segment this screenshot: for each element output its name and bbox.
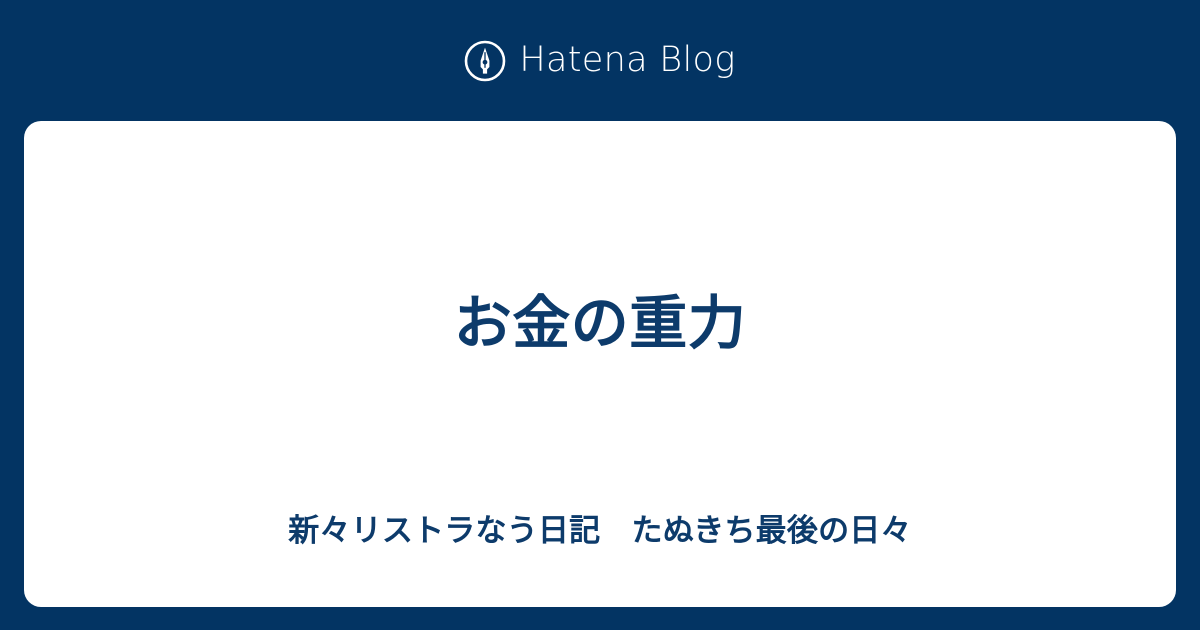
fountain-pen-nib-circle-icon	[464, 40, 506, 82]
brand-name: Hatena Blog	[519, 43, 735, 78]
blog-title: 新々リストラなう日記 たぬきち最後の日々	[84, 511, 1116, 551]
brand-header: Hatena Blog	[0, 0, 1200, 121]
ogp-card-root: Hatena Blog お金の重力 新々リストラなう日記 たぬきち最後の日々	[0, 0, 1200, 630]
entry-title: お金の重力	[84, 289, 1116, 359]
entry-card: お金の重力 新々リストラなう日記 たぬきち最後の日々	[24, 121, 1176, 607]
